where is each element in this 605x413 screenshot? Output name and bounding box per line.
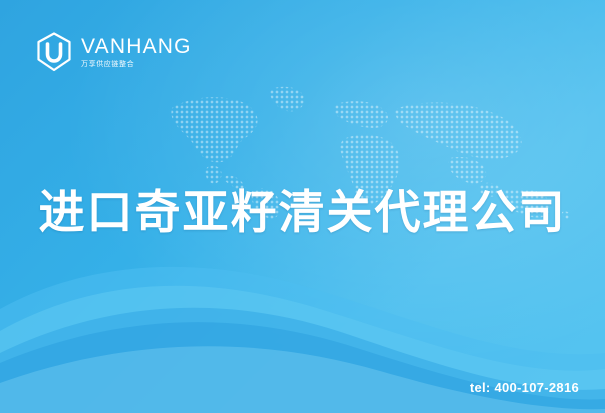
vanhang-shield-u-icon bbox=[36, 32, 72, 72]
brand-tagline: 万享供应链整合 bbox=[81, 61, 192, 68]
brand-logo: VANHANG 万享供应链整合 bbox=[36, 32, 192, 72]
brand-name: VANHANG bbox=[81, 36, 192, 57]
contact-phone: tel: 400-107-2816 bbox=[470, 380, 579, 395]
banner-canvas: VANHANG 万享供应链整合 进口奇亚籽清关代理公司 tel: 400-107… bbox=[0, 0, 605, 413]
